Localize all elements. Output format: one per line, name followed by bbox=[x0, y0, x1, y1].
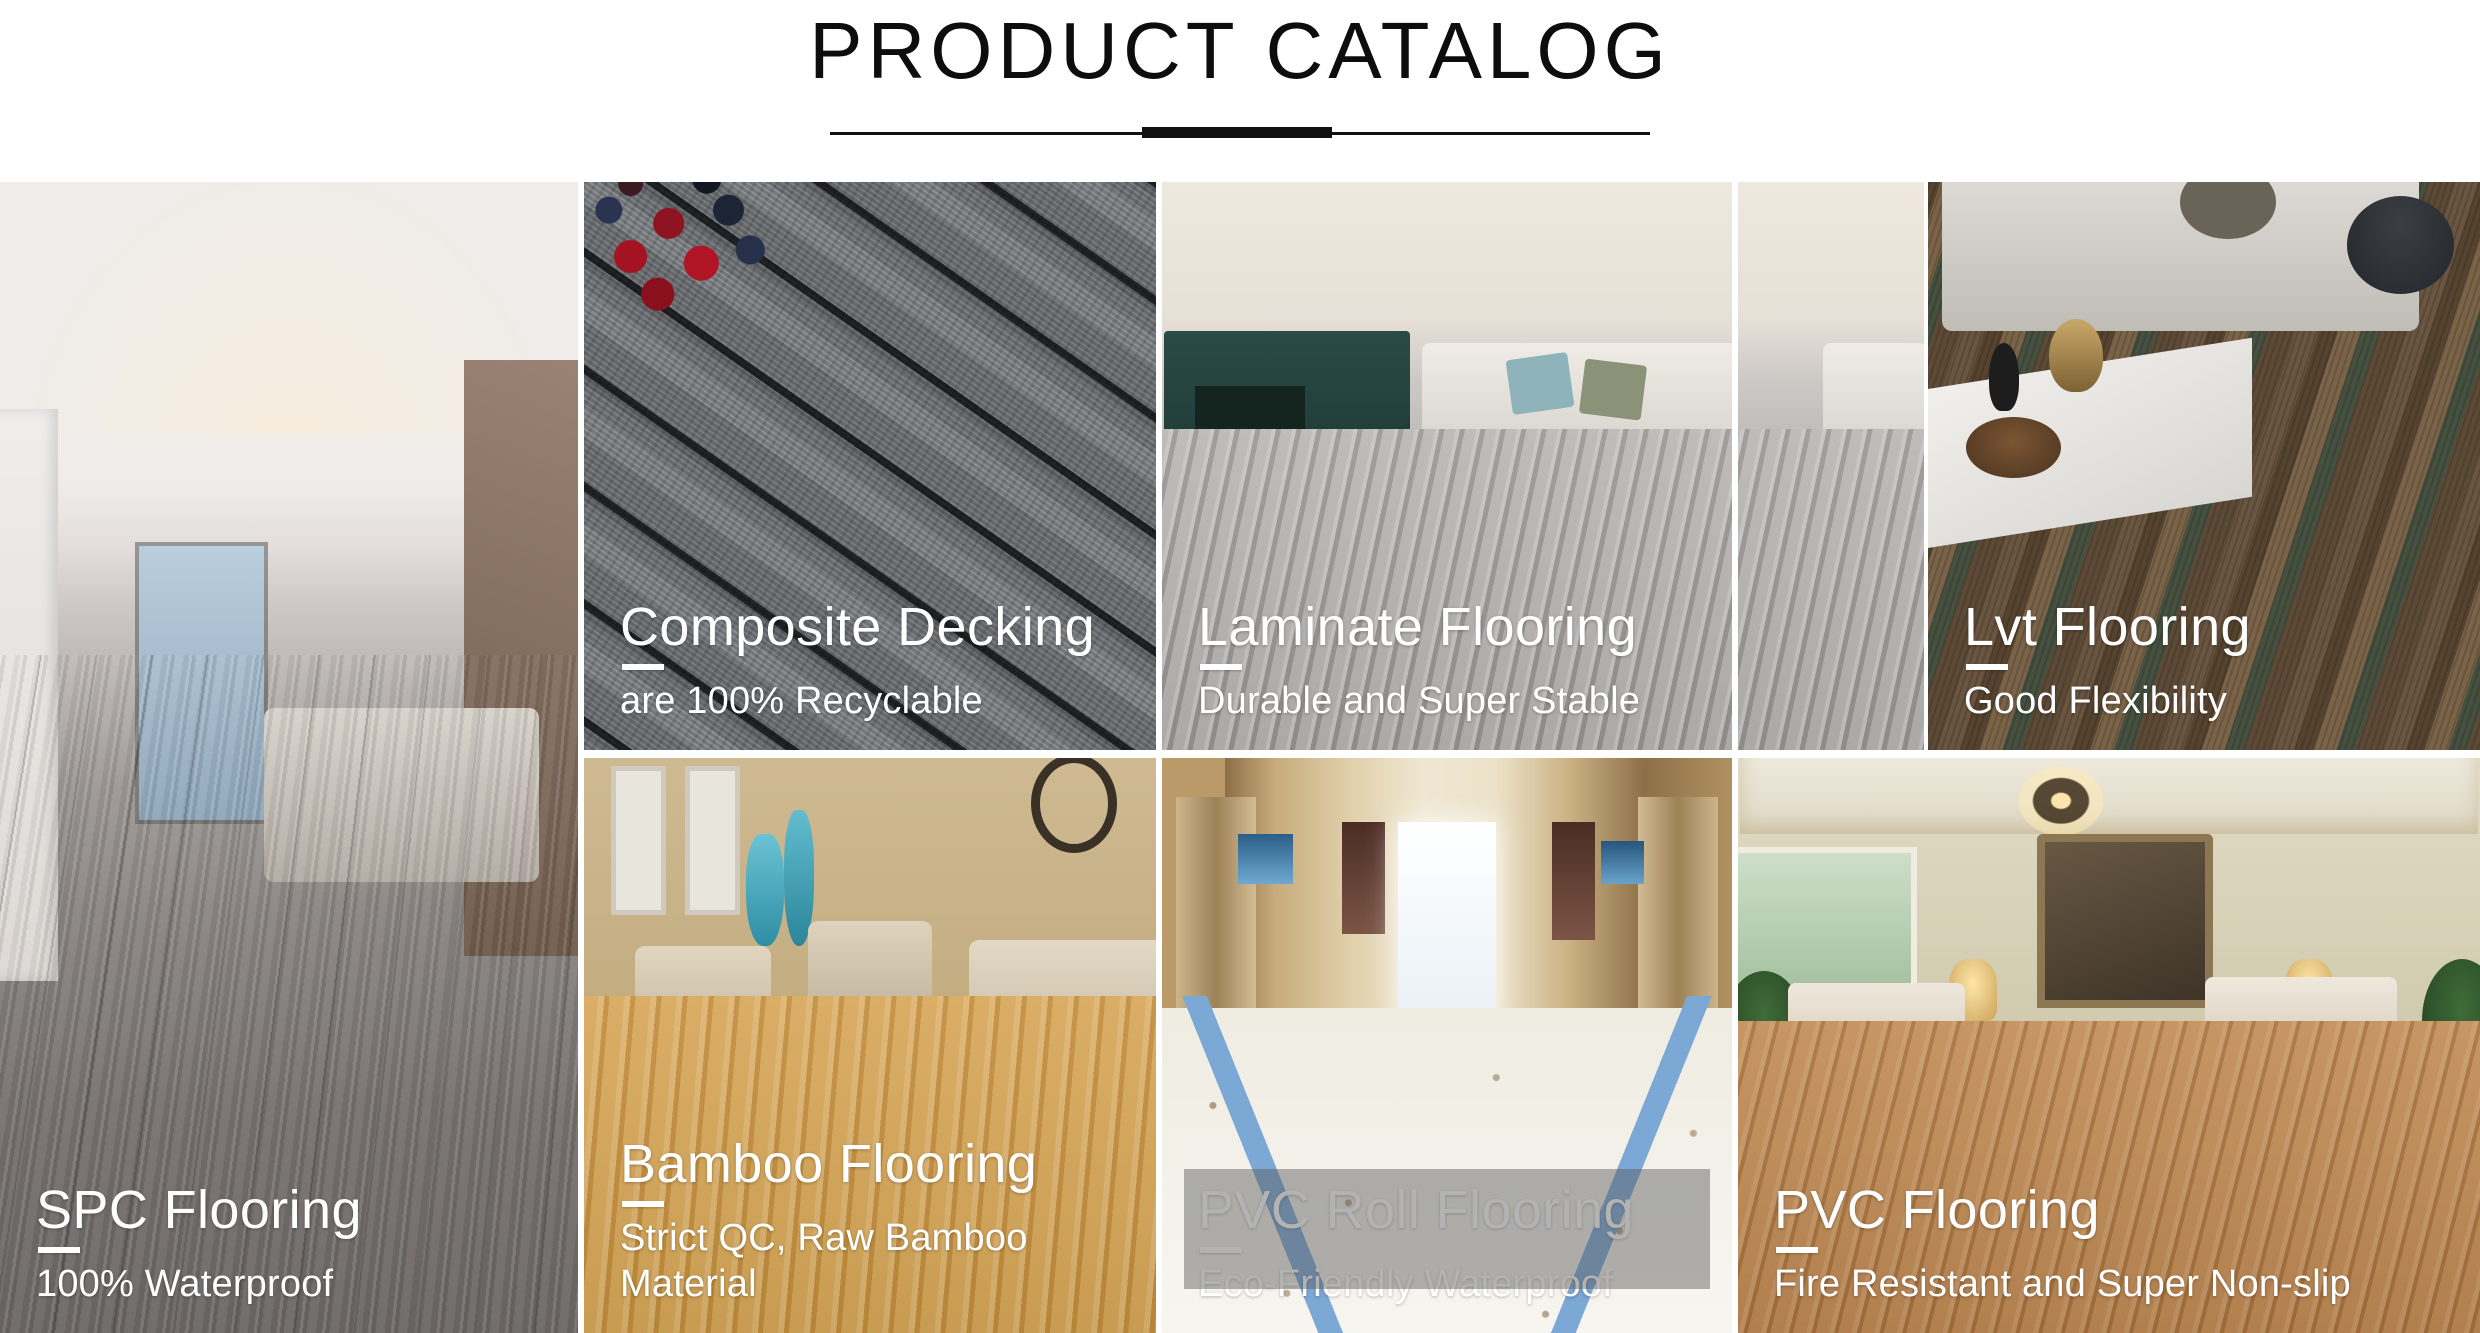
caption-rule bbox=[622, 1201, 664, 1207]
product-title-pvc: PVC Flooring bbox=[1774, 1179, 2458, 1241]
product-card-spc[interactable]: SPC Flooring 100% Waterproof bbox=[0, 182, 578, 1333]
product-caption-spc: SPC Flooring 100% Waterproof bbox=[0, 1179, 578, 1333]
product-subtitle-composite-decking: are 100% Recyclable bbox=[620, 678, 1134, 724]
caption-rule bbox=[38, 1247, 80, 1253]
product-subtitle-bamboo: Strict QC, Raw Bamboo Material bbox=[620, 1215, 1134, 1307]
product-caption-composite-decking: Composite Decking are 100% Recyclable bbox=[584, 596, 1156, 750]
product-title-lvt: Lvt Flooring bbox=[1964, 596, 2458, 658]
product-title-laminate: Laminate Flooring bbox=[1198, 596, 1710, 658]
caption-rule bbox=[622, 664, 664, 670]
product-subtitle-pvc: Fire Resistant and Super Non-slip bbox=[1774, 1261, 2458, 1307]
catalog-grid: SPC Flooring 100% Waterproof Composite D… bbox=[0, 182, 2480, 1333]
product-card-pvc[interactable]: PVC Flooring Fire Resistant and Super No… bbox=[1738, 758, 2480, 1333]
product-card-lvt[interactable]: Lvt Flooring Good Flexibility bbox=[1928, 182, 2480, 750]
product-caption-bamboo: Bamboo Flooring Strict QC, Raw Bamboo Ma… bbox=[584, 1133, 1156, 1333]
title-divider bbox=[830, 125, 1650, 143]
product-caption-lvt: Lvt Flooring Good Flexibility bbox=[1928, 596, 2480, 750]
product-card-pvc-roll[interactable]: PVC Roll Flooring Eco-Friendly Waterproo… bbox=[1162, 758, 1732, 1333]
page-title: PRODUCT CATALOG bbox=[0, 4, 2480, 98]
product-image-lvt-left-strip bbox=[1738, 182, 1924, 750]
product-card-laminate[interactable]: Laminate Flooring Durable and Super Stab… bbox=[1162, 182, 1732, 750]
product-subtitle-lvt: Good Flexibility bbox=[1964, 678, 2458, 724]
caption-rule bbox=[1966, 664, 2008, 670]
product-catalog-page: PRODUCT CATALOG SPC Flooring bbox=[0, 0, 2480, 1333]
product-card-composite-decking[interactable]: Composite Decking are 100% Recyclable bbox=[584, 182, 1156, 750]
divider-accent-bar bbox=[1142, 127, 1332, 138]
product-caption-pvc-roll: PVC Roll Flooring Eco-Friendly Waterproo… bbox=[1162, 1179, 1732, 1333]
product-image-spc bbox=[0, 182, 578, 1333]
product-title-bamboo: Bamboo Flooring bbox=[620, 1133, 1134, 1195]
product-card-bamboo[interactable]: Bamboo Flooring Strict QC, Raw Bamboo Ma… bbox=[584, 758, 1156, 1333]
product-title-composite-decking: Composite Decking bbox=[620, 596, 1134, 658]
product-caption-laminate: Laminate Flooring Durable and Super Stab… bbox=[1162, 596, 1732, 750]
caption-rule bbox=[1200, 664, 1242, 670]
product-subtitle-laminate: Durable and Super Stable bbox=[1198, 678, 1710, 724]
product-subtitle-spc: 100% Waterproof bbox=[36, 1261, 556, 1307]
product-caption-pvc: PVC Flooring Fire Resistant and Super No… bbox=[1738, 1179, 2480, 1333]
catalog-header: PRODUCT CATALOG bbox=[0, 0, 2480, 182]
caption-scrim bbox=[1184, 1169, 1710, 1289]
product-title-spc: SPC Flooring bbox=[36, 1179, 556, 1241]
caption-rule bbox=[1776, 1247, 1818, 1253]
